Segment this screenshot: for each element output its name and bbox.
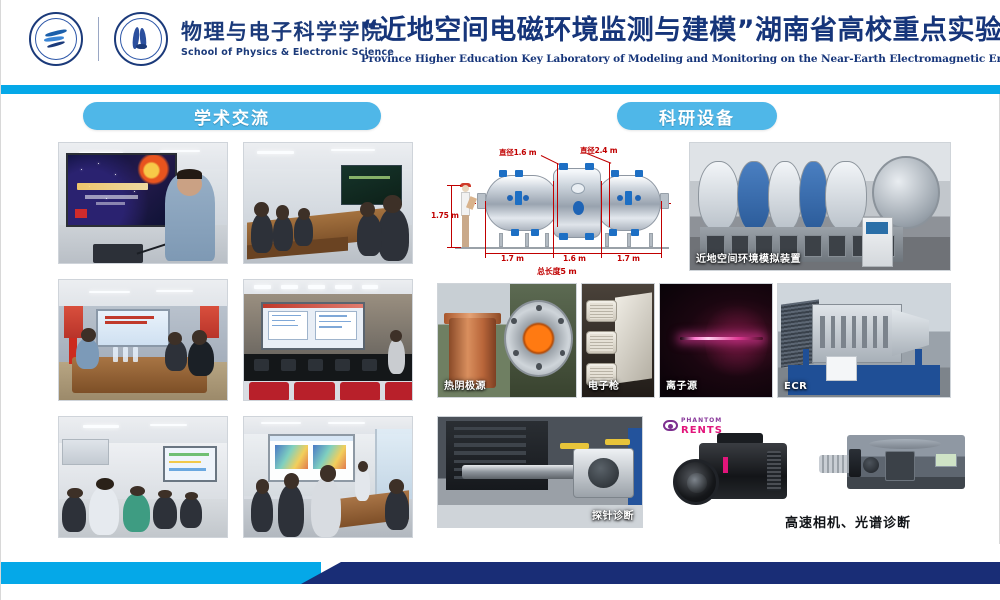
- info-placard: [826, 356, 857, 381]
- ext-line: [601, 181, 602, 249]
- support-leg: [499, 233, 503, 247]
- dim-label-seg-mid: 1.6 m: [563, 254, 586, 263]
- high-speed-camera: [673, 433, 791, 507]
- attendee: [385, 489, 409, 530]
- chamber-flange: [768, 161, 802, 232]
- slide-red-seal: [75, 209, 87, 217]
- figure-legs: [462, 215, 469, 247]
- equipment-caption-hot-cathode: 热阴极源: [444, 377, 486, 392]
- student-head: [67, 488, 82, 499]
- human-scale-figure: [459, 185, 472, 247]
- support-leg: [525, 233, 529, 247]
- student-pink: [89, 486, 119, 534]
- lab-title-cn: “近地空间电磁环境监测与建模”湖南省高校重点实验室: [361, 14, 991, 48]
- spectrometer-port: [863, 457, 879, 473]
- flange-port: [515, 170, 523, 177]
- poster-root: 物理与电子科学学院 School of Physics & Electronic…: [0, 0, 1000, 600]
- control-console: [862, 217, 893, 268]
- section-header-academic-exchange: 学术交流: [83, 102, 381, 130]
- ceramic-insulator: [586, 300, 616, 323]
- header-accent-rule: [1, 85, 1000, 94]
- spectrometer-display: [935, 453, 957, 467]
- attendee-head: [168, 332, 181, 345]
- attendee-head: [320, 465, 337, 482]
- logo-group: 物理与电子科学学院 School of Physics & Electronic…: [29, 12, 394, 66]
- attendee-head: [276, 205, 289, 219]
- attendee: [278, 484, 305, 537]
- dim-label-person-height: 1.75 m: [431, 211, 459, 220]
- display-pane-right: [315, 311, 357, 340]
- gun-housing: [615, 293, 652, 384]
- student-row: [59, 467, 227, 534]
- flange-port: [559, 163, 568, 170]
- dim-label-total-length: 总长度5 m: [537, 266, 577, 277]
- wall-banner-left: [64, 306, 82, 337]
- bottom-port: [585, 233, 594, 240]
- ceramic-insulator: [586, 331, 616, 354]
- vacuum-vessel: [485, 175, 661, 231]
- yellow-handle: [560, 443, 589, 449]
- dim-label-seg-right: 1.7 m: [617, 254, 640, 263]
- slide-header: [270, 436, 353, 441]
- blue-support-frame: [788, 365, 939, 394]
- bottom-port: [511, 229, 519, 236]
- display-top-bar: [263, 304, 363, 308]
- student: [180, 497, 202, 528]
- photo-meeting-room-discussion: [58, 279, 228, 401]
- student-head: [130, 486, 145, 496]
- attendee-head: [298, 208, 310, 220]
- photo-lecture-speaker: [58, 142, 228, 264]
- viewport: [617, 195, 623, 201]
- poster-header: 物理与电子科学学院 School of Physics & Electronic…: [1, 0, 1000, 85]
- lab-title-en: Province Higher Education Key Laboratory…: [361, 53, 991, 65]
- equipment-caption-main-chamber: 近地空间环境模拟装置: [696, 250, 801, 265]
- viewport: [635, 195, 641, 201]
- ext-line: [485, 201, 486, 249]
- academic-exchange-photo-grid: [58, 142, 413, 534]
- attendee-head: [256, 479, 269, 493]
- control-desk: [244, 354, 412, 380]
- slide-line-bar: [96, 202, 126, 205]
- height-dim-tick-top: [447, 185, 461, 186]
- student-head: [185, 492, 198, 500]
- height-dim-tick-bottom: [447, 247, 461, 248]
- logo-divider: [98, 17, 99, 61]
- presentation-display: [261, 302, 365, 350]
- chamber-coil: [737, 161, 771, 232]
- phantom-eye-icon: [663, 420, 678, 431]
- equipment-photo-main-chamber: 近地空间环境模拟装置: [689, 142, 951, 271]
- side-port: [515, 191, 522, 205]
- equipment-caption-probe-diagnostics: 探针诊断: [592, 507, 634, 522]
- camera-spectrometer-montage: PHANTOM RENTS: [651, 405, 971, 515]
- equipment-caption-ecr: ECR: [784, 381, 807, 392]
- section-header-research-equipment-label: 科研设备: [659, 104, 735, 129]
- diameter-small-leader-angle: [541, 155, 559, 165]
- presenter: [388, 338, 405, 374]
- brand-top-text: PHANTOM: [681, 417, 722, 424]
- seat-row: [244, 378, 412, 400]
- spectrometer: [819, 435, 965, 501]
- length-tick: [553, 248, 554, 258]
- camera-montage-caption: 高速相机、光谱诊断: [785, 512, 911, 531]
- equipment-photo-ion-source: 离子源: [659, 283, 773, 398]
- bottom-port: [559, 233, 568, 240]
- support-leg: [649, 233, 653, 247]
- chamber-flange: [698, 161, 740, 232]
- slide-plot-left: [275, 445, 308, 469]
- equipment-caption-electron-gun: 电子枪: [588, 377, 620, 392]
- water-bottle: [133, 347, 138, 361]
- attendee: [378, 208, 408, 261]
- equipment-caption-ion-source: 离子源: [666, 377, 698, 392]
- viewport: [507, 195, 513, 201]
- photo-seminar-data-plots: [243, 416, 413, 538]
- length-tick: [661, 248, 662, 258]
- equipment-photo-probe-diagnostics: 探针诊断: [437, 416, 643, 528]
- presenter: [355, 467, 370, 501]
- attendee: [357, 213, 382, 256]
- attendee-head: [389, 479, 404, 493]
- attendee: [251, 489, 273, 532]
- chamber-coil: [799, 161, 828, 232]
- instrument-rack: [446, 421, 548, 489]
- length-tick: [485, 248, 486, 258]
- attendee: [251, 213, 273, 254]
- poster-footer: [1, 544, 1000, 600]
- camera-accent-stripe: [723, 457, 728, 473]
- spectrometer-plate: [885, 451, 915, 481]
- flange-port: [635, 170, 643, 177]
- attendee: [76, 338, 100, 369]
- flange-port: [499, 170, 507, 177]
- projection-screen: [268, 434, 355, 482]
- figure-head: [462, 185, 469, 192]
- diameter-small-leader: [557, 163, 558, 227]
- magnet-assembly: [812, 304, 901, 363]
- speaker-hair: [177, 169, 202, 179]
- student-head: [158, 490, 171, 499]
- lab-title-block: “近地空间电磁环境监测与建模”湖南省高校重点实验室 Province Highe…: [361, 14, 991, 65]
- spectrometer-mount: [849, 449, 861, 477]
- viewport: [523, 195, 529, 201]
- flange-port: [611, 170, 619, 177]
- attendee: [273, 215, 293, 251]
- diameter-large-leader: [609, 163, 610, 227]
- support-leg: [605, 233, 609, 247]
- simulator-cad-diagram: 1.75 m 直径1.6 m 直径2.4 m 1.7 m 1.6 m 1.7 m…: [437, 141, 681, 276]
- display-pane-left: [268, 311, 308, 340]
- slide-title-bar: [77, 183, 148, 191]
- student: [62, 496, 86, 532]
- school-of-physics-crest-icon: [114, 12, 168, 66]
- water-bottle: [113, 347, 118, 361]
- wall-cabinet: [62, 439, 109, 465]
- camera-lens: [673, 459, 719, 505]
- slide-subtitle-bar: [85, 195, 138, 199]
- equipment-photo-hot-cathode: 热阴极源: [437, 283, 577, 398]
- student-green: [123, 493, 150, 532]
- attendee-head: [192, 330, 207, 344]
- attendee: [311, 477, 341, 537]
- student: [153, 496, 177, 530]
- attendee-head: [383, 195, 401, 213]
- ecr-cone: [892, 309, 930, 356]
- footer-cyan-band: [1, 562, 321, 584]
- projection-screen: [66, 153, 177, 227]
- podium: [93, 244, 143, 263]
- flange-port: [585, 163, 594, 170]
- vessel-drum-left: [485, 175, 559, 231]
- dim-label-diameter-small: 直径1.6 m: [499, 147, 536, 158]
- support-leg: [545, 233, 549, 247]
- beam-tube: [462, 465, 588, 478]
- viewport: [573, 201, 584, 215]
- section-header-academic-exchange-label: 学术交流: [194, 104, 270, 129]
- ground-line: [455, 247, 669, 249]
- photo-auditorium-presentation: [243, 279, 413, 401]
- photo-classroom-students: [58, 416, 228, 538]
- equipment-photo-electron-gun: 电子枪: [581, 283, 655, 398]
- projection-screen: [96, 309, 170, 347]
- diagnostic-chamber: [573, 448, 634, 499]
- equipment-photo-ecr: ECR: [777, 283, 951, 398]
- bottom-port: [531, 229, 539, 236]
- length-tick: [601, 248, 602, 258]
- bottom-port: [609, 229, 617, 236]
- chamber-flange: [825, 161, 867, 232]
- water-bottle: [123, 347, 128, 361]
- spectrometer-input-optics: [819, 455, 853, 473]
- plasma-halo: [705, 300, 768, 381]
- viewport: [571, 183, 585, 194]
- attendee: [188, 340, 213, 376]
- dim-label-seg-left: 1.7 m: [501, 254, 524, 263]
- yellow-handle: [605, 439, 629, 445]
- glowing-viewport-flange: [504, 300, 573, 377]
- csust-university-crest-icon: [29, 12, 83, 66]
- section-header-research-equipment: 科研设备: [617, 102, 777, 130]
- support-leg: [627, 233, 631, 247]
- dim-label-diameter-large: 直径2.4 m: [580, 145, 617, 156]
- photo-long-table-seminar: [243, 142, 413, 264]
- ion-beam: [680, 337, 763, 340]
- side-port: [625, 191, 632, 205]
- ext-line: [661, 201, 662, 249]
- ext-line: [553, 181, 554, 249]
- bottom-port: [631, 229, 639, 236]
